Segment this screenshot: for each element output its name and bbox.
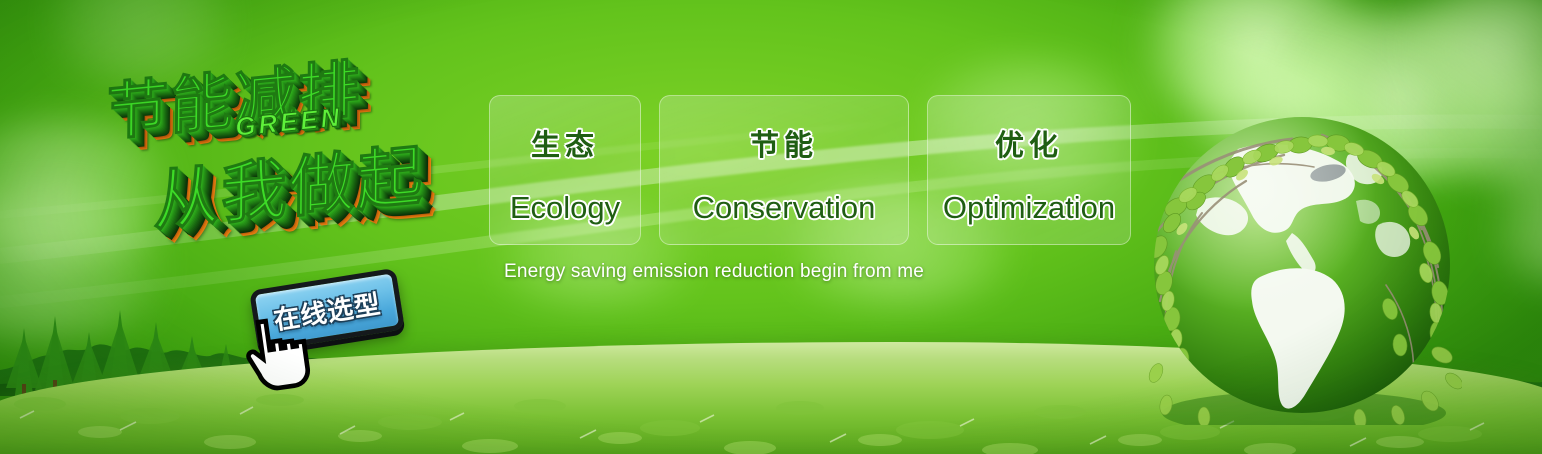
green-energy-banner: 节能减排 GREEN 从我做起 在线选型 生态 Ecology 节能 Conse…: [0, 0, 1542, 454]
vignette-overlay: [0, 0, 1542, 454]
